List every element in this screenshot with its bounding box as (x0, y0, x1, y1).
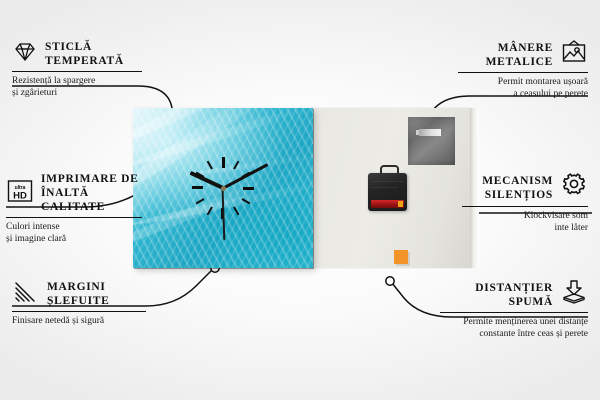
clock-mechanism-part (368, 170, 407, 211)
feature-rule (440, 312, 588, 313)
feature-desc: Permit montarea ușoară a ceasului pe per… (458, 76, 588, 100)
product-image (133, 108, 470, 268)
feature-desc: Finisare netedă și sigură (12, 315, 146, 327)
feature-polished-edges: MARGINI ȘLEFUITE Finisare netedă și sigu… (12, 280, 146, 327)
leader-dot-spacer (386, 277, 394, 285)
mechanism-battery (371, 200, 404, 208)
feature-tempered-glass: STICLĂ TEMPERATĂ Rezistență la spargere … (12, 40, 142, 99)
feature-desc: Culori intense și imagine clară (6, 221, 142, 245)
metal-hanger-part (408, 117, 455, 165)
feature-rule (6, 217, 142, 218)
clock-center-pivot (221, 186, 226, 191)
ultra-hd-icon: ultra HD (6, 179, 34, 208)
diamond-icon (12, 41, 38, 68)
wall-clock-face (133, 108, 313, 268)
infographic-canvas: STICLĂ TEMPERATĂ Rezistență la spargere … (0, 0, 600, 400)
feature-title: MECANISM SILENȚIOS (482, 174, 553, 202)
feature-silent-mechanism: MECANISM SILENȚIOS Klockvisare som inte … (462, 172, 588, 234)
picture-hanger-icon (560, 40, 588, 69)
feature-rule (12, 71, 142, 72)
feature-rule (12, 311, 146, 312)
feature-title: STICLĂ TEMPERATĂ (45, 40, 124, 68)
feature-desc: Klockvisare som inte låter (462, 210, 588, 234)
foam-spacer-icon (560, 280, 588, 309)
feature-title: DISTANȚIER SPUMĂ (475, 281, 553, 309)
feature-high-quality-print: ultra HD IMPRIMARE DE ÎNALTĂ CALITATE Cu… (6, 172, 142, 245)
foam-spacer-part (394, 250, 408, 264)
mechanism-ridge-2 (372, 187, 398, 188)
feature-foam-spacer: DISTANȚIER SPUMĂ Permite menținerea unei… (440, 280, 588, 340)
feature-title: MARGINI ȘLEFUITE (47, 280, 109, 308)
product-back-panel (311, 108, 470, 268)
feature-rule (458, 72, 588, 73)
feature-title: MÂNERE METALICE (486, 41, 553, 69)
feature-metal-handles: MÂNERE METALICE Permit montarea ușoară a… (458, 40, 588, 100)
hanger-plate (419, 129, 441, 136)
feature-desc: Permite menținerea unei distanțe constan… (440, 316, 588, 340)
polished-edge-icon (12, 281, 40, 308)
feature-desc: Rezistență la spargere și zgârieturi (12, 75, 142, 99)
svg-text:HD: HD (13, 190, 27, 201)
feature-rule (462, 206, 588, 207)
mechanism-body (368, 173, 407, 211)
feature-title: IMPRIMARE DE ÎNALTĂ CALITATE (41, 172, 142, 214)
mechanism-ridge-1 (372, 181, 403, 182)
gear-icon (560, 172, 588, 203)
